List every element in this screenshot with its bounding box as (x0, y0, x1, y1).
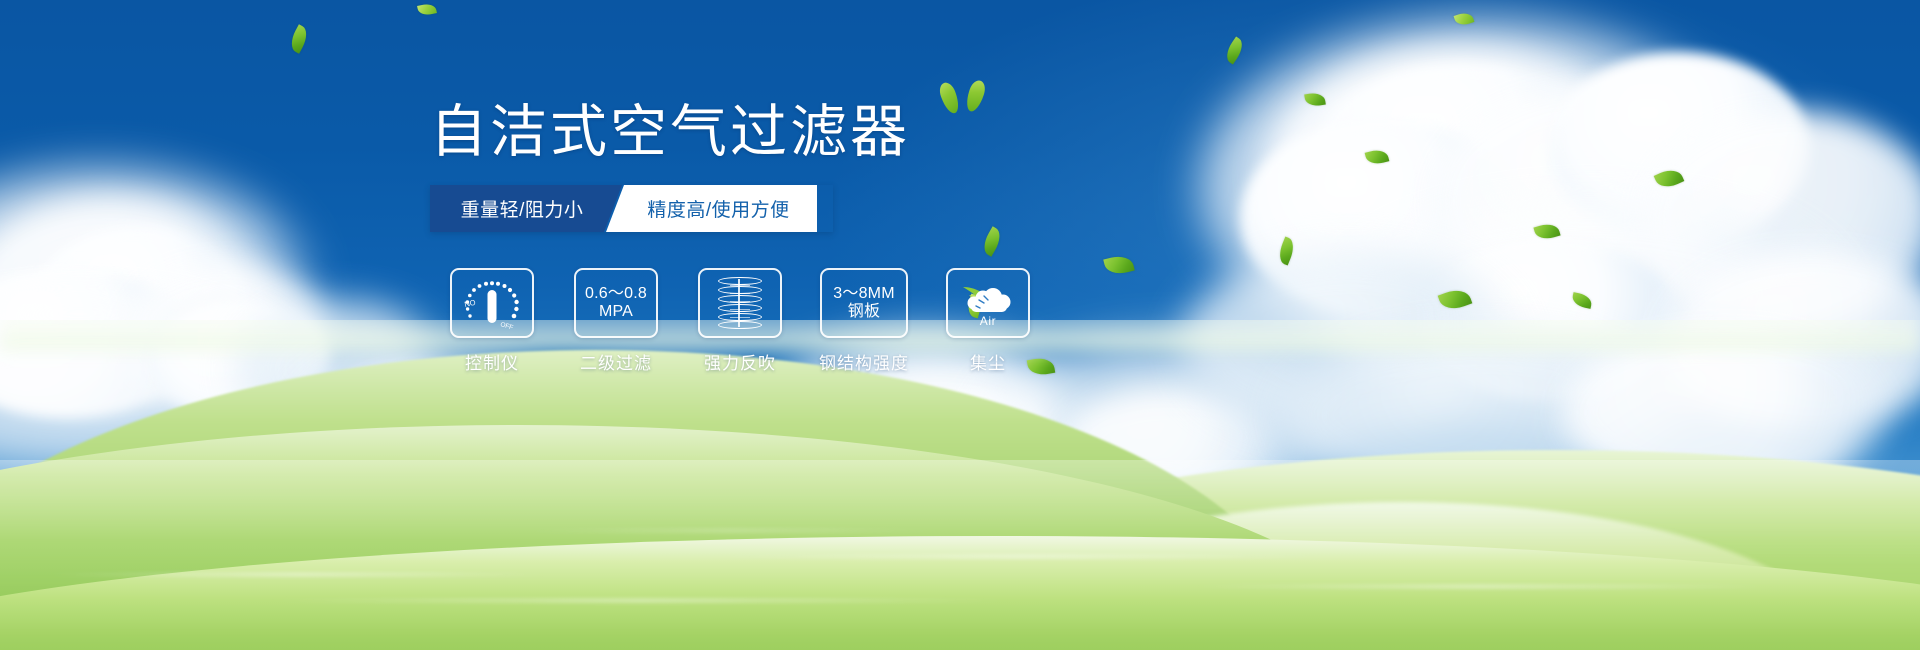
feature-icon-line-1: 3～8MM (833, 285, 894, 303)
feature-icon-box: 3～8MM 钢板 (820, 268, 908, 338)
feature-icon-box: 0.6～0.8 MPA (574, 268, 658, 338)
feature-icon-line-2: 钢板 (848, 303, 880, 321)
feature-caption: 控制仪 (465, 349, 519, 374)
air-cloud-icon: Air (959, 281, 1017, 325)
gauge-dial-icon: NO OFF (460, 276, 524, 330)
feature-item-controller[interactable]: NO OFF 控制仪 (430, 268, 554, 374)
svg-text:OFF: OFF (499, 321, 513, 330)
tagline-pill-right[interactable]: 精度高/使用方便 (606, 185, 817, 232)
feature-icon-box: Air (946, 268, 1030, 338)
title-wrapper: 自洁式空气过滤器 (430, 104, 1050, 161)
feature-caption: 强力反吹 (704, 349, 776, 374)
feature-icon-box (698, 268, 782, 338)
tagline-pills: 重量轻/阻力小 精度高/使用方便 (430, 185, 833, 232)
leaf-icon (937, 80, 962, 115)
leaf-icon (963, 78, 987, 113)
feature-caption: 钢结构强度 (819, 349, 909, 374)
feature-caption: 二级过滤 (580, 349, 652, 374)
tagline-pill-left[interactable]: 重量轻/阻力小 (430, 185, 622, 232)
feature-item-dust[interactable]: Air 集尘 (926, 268, 1050, 374)
feature-item-pressure[interactable]: 0.6～0.8 MPA 二级过滤 (554, 268, 678, 374)
air-label: Air (959, 314, 1017, 328)
feature-icon-line-2: MPA (599, 303, 633, 321)
feature-item-steel[interactable]: 3～8MM 钢板 钢结构强度 (802, 268, 926, 374)
feature-list: NO OFF 控制仪 0.6～0.8 MPA 二级过滤 (430, 268, 1050, 374)
feature-item-backblow[interactable]: 强力反吹 (678, 268, 802, 374)
feature-icon-line-1: 0.6～0.8 (585, 285, 647, 303)
banner-stage: 自洁式空气过滤器 重量轻/阻力小 精度高/使用方便 (0, 0, 1920, 650)
coil-filter-icon (718, 277, 762, 329)
feature-caption: 集尘 (970, 349, 1006, 374)
feature-icon-box: NO OFF (450, 268, 534, 338)
banner-content: 自洁式空气过滤器 重量轻/阻力小 精度高/使用方便 (430, 104, 1050, 374)
svg-text:NO: NO (464, 298, 477, 309)
title-leaf-decoration (938, 80, 998, 116)
